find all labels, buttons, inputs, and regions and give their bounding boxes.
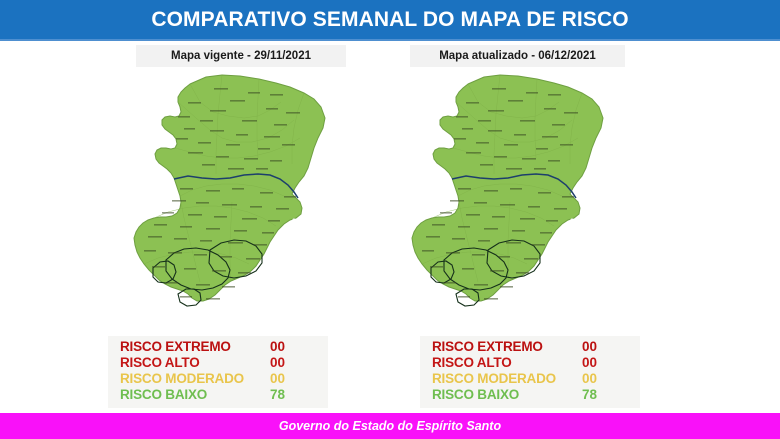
legend-value-risco-baixo: 78	[582, 387, 597, 403]
header-bar: COMPARATIVO SEMANAL DO MAPA DE RISCO	[0, 0, 780, 39]
page-title: COMPARATIVO SEMANAL DO MAPA DE RISCO	[151, 8, 628, 32]
infographic-page: COMPARATIVO SEMANAL DO MAPA DE RISCO Map…	[0, 0, 780, 439]
legend-label-risco-baixo: RISCO BAIXO	[432, 387, 582, 403]
legend-value-risco-extremo: 00	[270, 339, 285, 355]
legend-label-risco-alto: RISCO ALTO	[120, 355, 270, 371]
legend-value-risco-moderado: 00	[582, 371, 597, 387]
legend-value-risco-extremo: 00	[582, 339, 597, 355]
legend-row: RISCO BAIXO 78	[420, 387, 640, 403]
legend-row: RISCO EXTREMO 00	[108, 339, 328, 355]
caption-right-text: Mapa atualizado - 06/12/2021	[439, 50, 596, 62]
legend-label-risco-moderado: RISCO MODERADO	[432, 371, 582, 387]
legend-row: RISCO BAIXO 78	[108, 387, 328, 403]
legend-label-risco-extremo: RISCO EXTREMO	[120, 339, 270, 355]
footer-bar: Governo do Estado do Espírito Santo	[0, 413, 780, 439]
coastal-detail	[570, 218, 577, 225]
legend-value-risco-alto: 00	[270, 355, 285, 371]
map-right-svg	[396, 72, 656, 327]
header-underline	[0, 39, 780, 41]
legend-label-risco-alto: RISCO ALTO	[432, 355, 582, 371]
caption-left-text: Mapa vigente - 29/11/2021	[171, 50, 311, 62]
risk-legend-right: RISCO EXTREMO 00 RISCO ALTO 00 RISCO MOD…	[420, 336, 640, 408]
risk-legend-left: RISCO EXTREMO 00 RISCO ALTO 00 RISCO MOD…	[108, 336, 328, 408]
legend-label-risco-extremo: RISCO EXTREMO	[432, 339, 582, 355]
legend-row: RISCO ALTO 00	[108, 355, 328, 371]
footer-text: Governo do Estado do Espírito Santo	[279, 419, 501, 433]
legend-value-risco-baixo: 78	[270, 387, 285, 403]
map-espirito-santo-right	[396, 72, 656, 327]
caption-left-map: Mapa vigente - 29/11/2021	[136, 45, 346, 67]
map-left-svg	[118, 72, 378, 327]
legend-row: RISCO MODERADO 00	[108, 371, 328, 387]
legend-label-risco-moderado: RISCO MODERADO	[120, 371, 270, 387]
caption-right-map: Mapa atualizado - 06/12/2021	[410, 45, 625, 67]
legend-value-risco-moderado: 00	[270, 371, 285, 387]
legend-row: RISCO EXTREMO 00	[420, 339, 640, 355]
legend-row: RISCO ALTO 00	[420, 355, 640, 371]
map-right-state-shape	[412, 75, 603, 306]
legend-value-risco-alto: 00	[582, 355, 597, 371]
coastal-detail	[292, 218, 299, 225]
legend-row: RISCO MODERADO 00	[420, 371, 640, 387]
map-left-state-shape	[134, 75, 325, 306]
map-espirito-santo-left	[118, 72, 378, 327]
legend-label-risco-baixo: RISCO BAIXO	[120, 387, 270, 403]
